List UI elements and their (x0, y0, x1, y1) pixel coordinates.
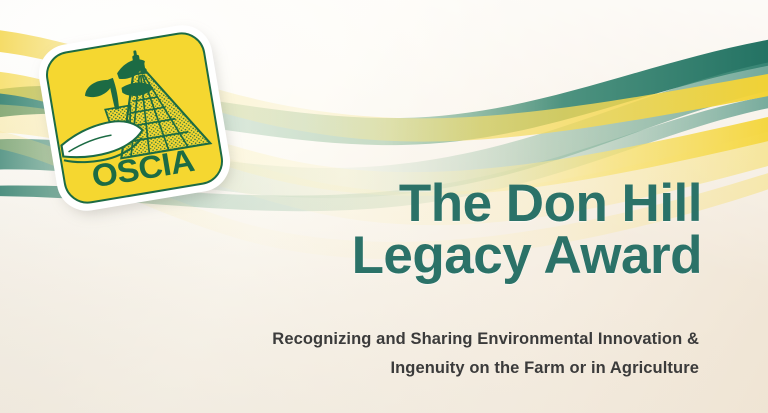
subtitle-line-2: Ingenuity on the Farm or in Agriculture (159, 354, 699, 383)
title-line-1: The Don Hill (282, 178, 702, 230)
subtitle-line-1: Recognizing and Sharing Environmental In… (159, 325, 699, 354)
logo-white-plate: OSCIA (34, 21, 234, 216)
logo-yellow-tile: OSCIA (42, 29, 226, 207)
logo-artwork: OSCIA (45, 31, 225, 205)
oscia-logo: OSCIA (34, 21, 234, 216)
page-title: The Don Hill Legacy Award (282, 178, 702, 282)
award-banner: OSCIA The Don Hill Legacy Award Recogniz… (0, 0, 768, 413)
title-line-2: Legacy Award (282, 230, 702, 282)
page-subtitle: Recognizing and Sharing Environmental In… (159, 325, 699, 383)
